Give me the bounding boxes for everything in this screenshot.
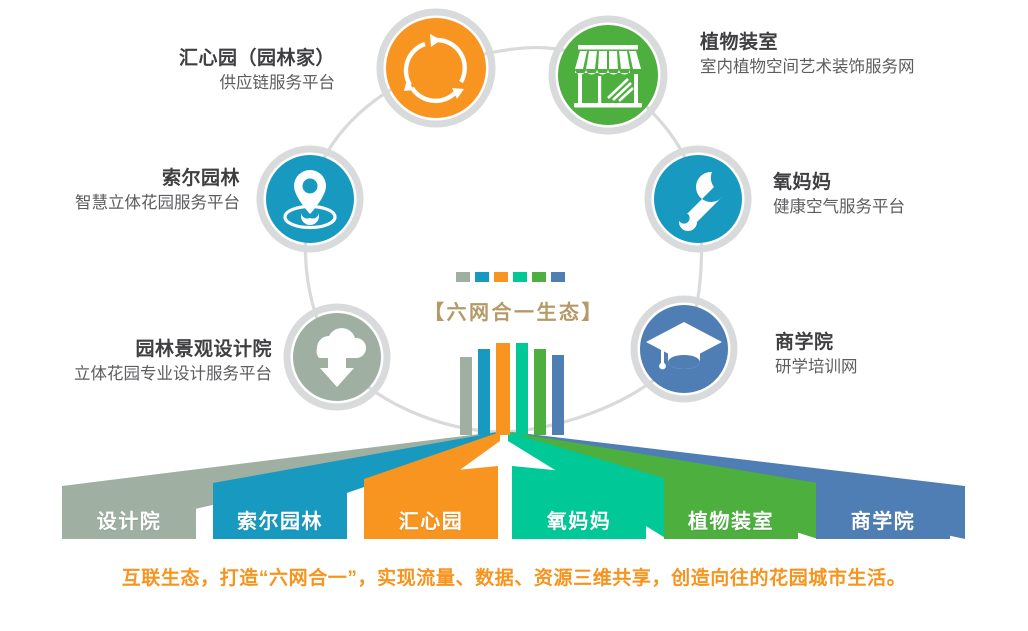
swatch-6: [551, 272, 565, 282]
node-circle-huixinyuan[interactable]: [380, 12, 492, 124]
node-label-huixinyuan: 汇心园（园林家） 供应链服务平台: [10, 46, 335, 95]
node-title-sheijiyuan: 园林景观设计院: [0, 337, 272, 362]
tab-label-yangmama[interactable]: 氧妈妈: [512, 505, 646, 534]
node-title-shangxueyuan: 商学院: [775, 330, 1015, 355]
tab-label-sheijiyuan[interactable]: 设计院: [62, 505, 196, 534]
node-label-suoeryuanlin: 索尔园林 智慧立体花园服务平台: [0, 166, 240, 215]
node-circle-suoeryuanlin[interactable]: [260, 149, 360, 249]
swatch-1: [456, 272, 470, 282]
tab-label-huixinyuan[interactable]: 汇心园: [364, 505, 498, 534]
node-title-huixinyuan: 汇心园（园林家）: [10, 46, 335, 71]
tab-label-shangxueyuan[interactable]: 商学院: [816, 505, 950, 534]
node-title-zhiwuzhuangshi: 植物装室: [700, 30, 1020, 55]
node-label-shangxueyuan: 商学院 研学培训网: [775, 330, 1015, 379]
ribbon-bar-yangmama: [516, 343, 528, 435]
node-title-suoeryuanlin: 索尔园林: [0, 166, 240, 191]
bottom-caption: 互联生态，打造“六网合一”，实现流量、数据、资源三维共享，创造向往的花园城市生活…: [0, 563, 1028, 590]
node-subtitle-suoeryuanlin: 智慧立体花园服务平台: [0, 193, 240, 215]
node-label-zhiwuzhuangshi: 植物装室 室内植物空间艺术装饰服务网: [700, 30, 1020, 79]
tab-label-suoeryuanlin[interactable]: 索尔园林: [213, 505, 347, 534]
node-subtitle-huixinyuan: 供应链服务平台: [10, 73, 335, 95]
node-circle-yangmama[interactable]: [648, 149, 748, 249]
swatch-4: [513, 272, 527, 282]
center-title: 【六网合一生态】: [394, 296, 634, 325]
node-subtitle-sheijiyuan: 立体花园专业设计服务平台: [0, 364, 272, 386]
ecosystem-color-swatches: [456, 272, 565, 282]
ribbon-bar-shangxueyuan: [552, 355, 564, 435]
infographic-canvas: 【六网合一生态】 汇心园（园林家） 供应链服务平台 植物装室 室内植物空间艺术装…: [0, 0, 1028, 631]
swatch-2: [475, 272, 489, 282]
swatch-3: [494, 272, 508, 282]
ribbon-bar-zhiwuzhuangshi: [534, 349, 546, 435]
ribbon-bar-sheijiyuan: [460, 357, 472, 435]
tab-label-zhiwuzhuangshi[interactable]: 植物装室: [664, 505, 798, 534]
node-circle-zhiwuzhuangshi[interactable]: [552, 19, 664, 131]
swatch-5: [532, 272, 546, 282]
node-title-yangmama: 氧妈妈: [773, 170, 1013, 195]
ribbon-bar-huixinyuan: [496, 343, 510, 435]
ribbon-bar-suoeryuanlin: [478, 349, 490, 435]
node-subtitle-zhiwuzhuangshi: 室内植物空间艺术装饰服务网: [700, 57, 1020, 79]
node-subtitle-shangxueyuan: 研学培训网: [775, 357, 1015, 379]
node-label-yangmama: 氧妈妈 健康空气服务平台: [773, 170, 1013, 219]
node-label-sheijiyuan: 园林景观设计院 立体花园专业设计服务平台: [0, 337, 272, 386]
node-subtitle-yangmama: 健康空气服务平台: [773, 197, 1013, 219]
node-circle-sheijiyuan[interactable]: [287, 307, 387, 407]
node-circle-shangxueyuan[interactable]: [634, 299, 734, 399]
